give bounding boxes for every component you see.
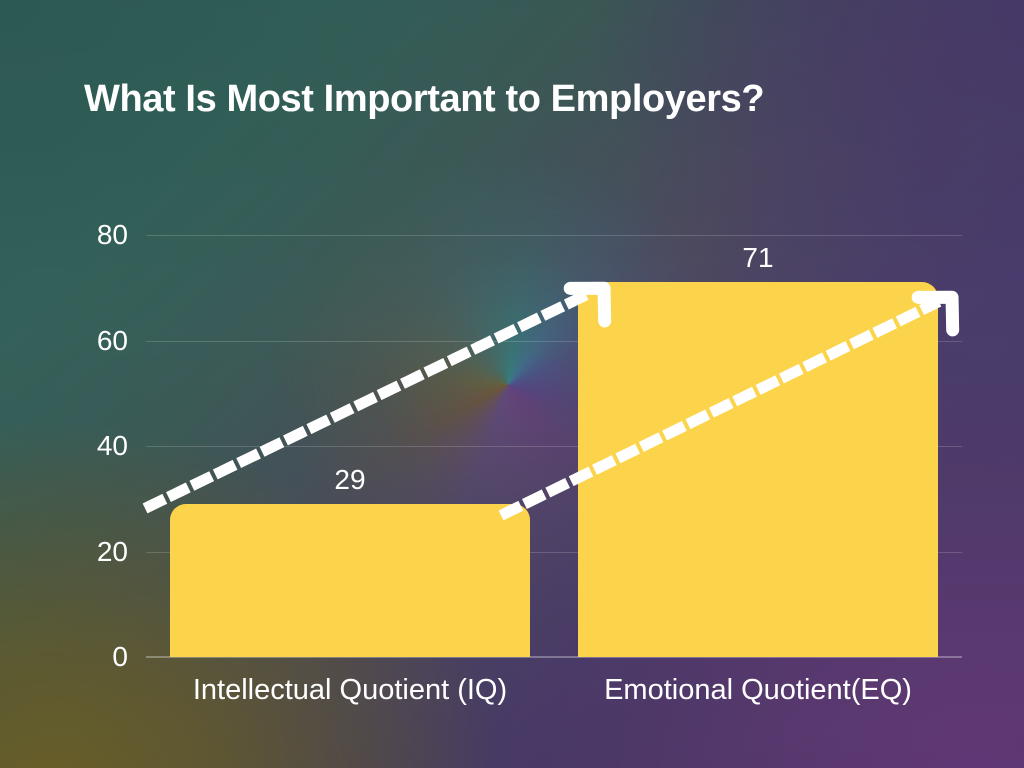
- chart-title: What Is Most Important to Employers?: [84, 73, 964, 125]
- chart-canvas: What Is Most Important to Employers? 020…: [0, 0, 1024, 768]
